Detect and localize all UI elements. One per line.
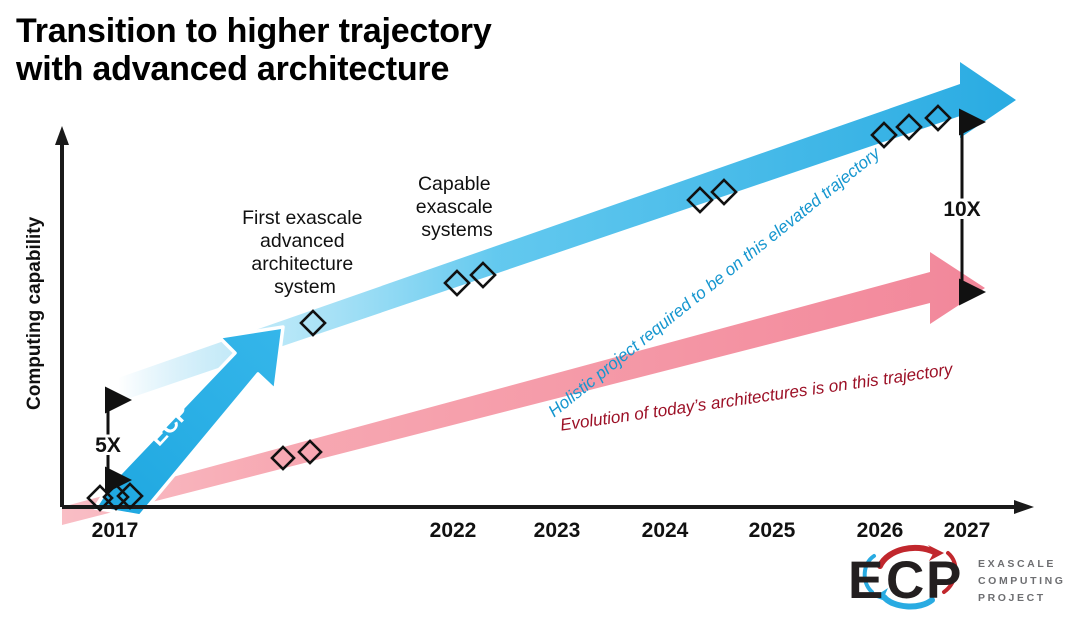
logo-tagline-line1: EXASCALE	[978, 558, 1056, 570]
ecp-logo: E C P EXASCALE COMPUTING PROJECT	[848, 545, 1066, 610]
x-axis-tick-labels: 2017 2022 2023 2024 2025 2026 2027	[92, 519, 991, 542]
callout-first-exascale-text: First exascale advanced architecture sys…	[242, 207, 368, 298]
x-axis-arrowhead	[1014, 500, 1034, 514]
x-tick-2025: 2025	[749, 519, 796, 542]
logo-letter-p: P	[926, 551, 962, 610]
x-tick-2023: 2023	[534, 519, 581, 542]
x-tick-2027: 2027	[944, 519, 991, 542]
trajectory-chart: ECP Computing capability 2017 2022 2023 …	[0, 0, 1080, 617]
five-x-label: 5X	[95, 434, 121, 457]
y-axis-arrowhead	[55, 126, 69, 145]
callout-capable-exascale-text: Capable exascale systems	[416, 173, 498, 241]
callout-first-exascale: First exascale advanced architecture sys…	[242, 207, 368, 298]
callout-capable-exascale: Capable exascale systems	[416, 173, 498, 241]
five-x-measure: 5X	[95, 400, 121, 480]
ten-x-label: 10X	[943, 198, 980, 221]
x-tick-2024: 2024	[642, 519, 689, 542]
x-tick-2026: 2026	[857, 519, 904, 542]
logo-tagline-line3: PROJECT	[978, 592, 1046, 604]
logo-tagline-line2: COMPUTING	[978, 575, 1066, 587]
y-axis-label: Computing capability	[24, 216, 45, 410]
x-tick-2022: 2022	[430, 519, 477, 542]
logo-letter-c: C	[886, 551, 925, 610]
x-tick-2017: 2017	[92, 519, 139, 542]
logo-letter-e: E	[848, 551, 884, 610]
slide-canvas: Transition to higher trajectory with adv…	[0, 0, 1080, 617]
